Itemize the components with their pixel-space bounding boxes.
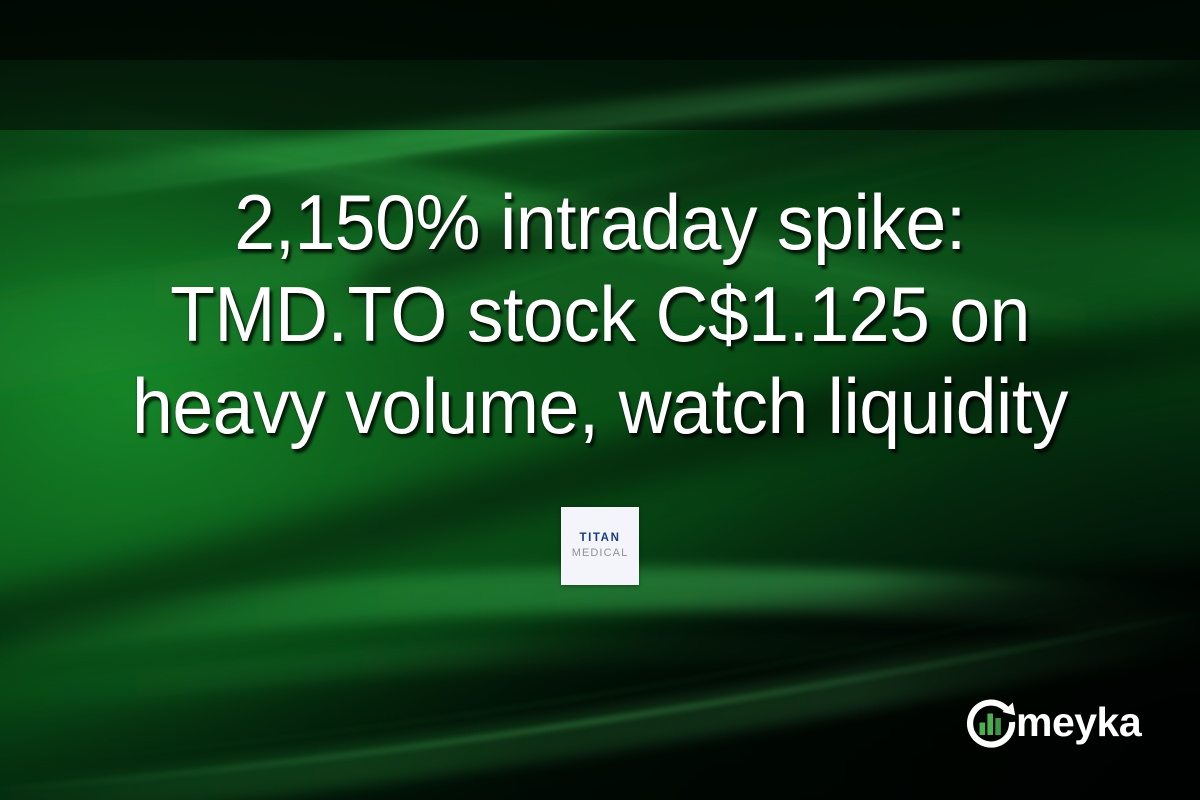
- company-logo-title: TITAN: [579, 533, 620, 545]
- company-logo: TITAN MEDICAL: [561, 507, 639, 585]
- headline: 2,150% intraday spike: TMD.TO stock C$1.…: [0, 176, 1200, 452]
- brand-lockup: meyka: [962, 692, 1141, 752]
- brand-name: meyka: [1016, 702, 1141, 743]
- company-logo-subtitle: MEDICAL: [572, 548, 629, 559]
- headline-line-3: heavy volume, watch liquidity: [36, 360, 1164, 452]
- meyka-logo-icon: [962, 693, 1020, 751]
- social-share-card: 2,150% intraday spike: TMD.TO stock C$1.…: [0, 0, 1200, 800]
- wave-streak-group-bottom: [0, 568, 1200, 800]
- headline-line-1: 2,150% intraday spike:: [36, 176, 1164, 268]
- wave-bottom-highlight: [0, 566, 1200, 792]
- headline-line-2: TMD.TO stock C$1.125 on: [36, 268, 1164, 360]
